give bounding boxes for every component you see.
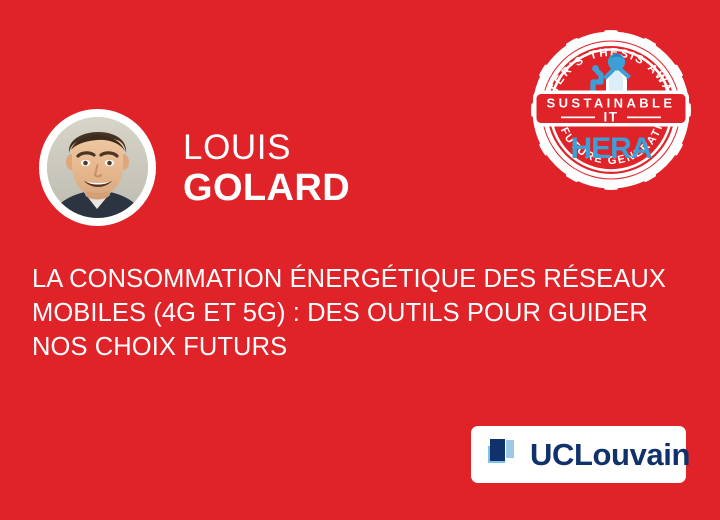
hera-award-badge: MASTER'S THESIS AWARDS FOR FUTURE GENERA… — [531, 30, 691, 190]
svg-text:HERA: HERA — [570, 132, 651, 165]
banner-line-1: SUSTAINABLE — [547, 96, 676, 111]
nominee-name: LOUIS GOLARD — [183, 128, 503, 209]
uclouvain-squares-icon — [488, 439, 521, 470]
nominee-first-name: LOUIS — [183, 128, 503, 167]
sustainable-it-banner: SUSTAINABLE IT — [533, 91, 689, 127]
banner-line-2: IT — [604, 110, 619, 125]
uclouvain-mark-icon — [488, 439, 521, 470]
award-nominee-card: LOUIS GOLARD LA CONSOMMATION ÉNERGÉTIQUE… — [0, 0, 720, 520]
hera-badge-graphic: MASTER'S THESIS AWARDS FOR FUTURE GENERA… — [531, 30, 691, 190]
portrait-photo — [47, 117, 148, 218]
uclouvain-logo: UCLouvain — [471, 426, 686, 483]
thesis-title: LA CONSOMMATION ÉNERGÉTIQUE DES RÉSEAUX … — [32, 262, 692, 364]
portrait-illustration — [47, 117, 148, 218]
uclouvain-wordmark: UCLouvain — [530, 439, 690, 470]
hera-wordmark: HERA — [570, 132, 651, 165]
nominee-last-name: GOLARD — [183, 167, 503, 209]
avatar — [39, 109, 156, 226]
